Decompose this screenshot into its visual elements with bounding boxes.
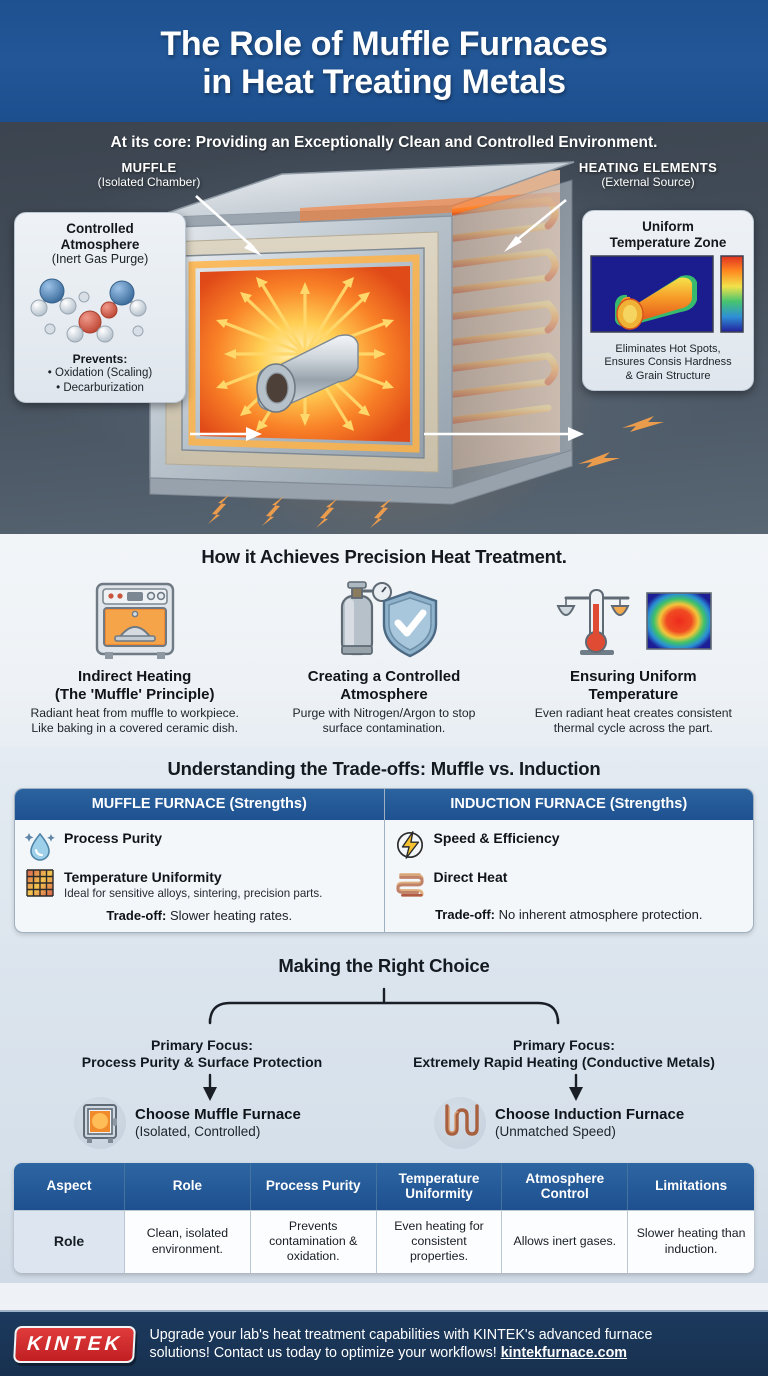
gas-cylinder-shield-icon [265,578,502,664]
gas-molecules-icon [22,267,178,345]
controlled-atmosphere-card: Controlled Atmosphere (Inert Gas Purge) [14,212,186,403]
comparison-panel: MUFFLE FURNACE (Strengths) Pr [14,788,754,933]
table-cell-atmosphere-control: Allows inert gases. [502,1210,628,1273]
how-columns: Indirect Heating (The 'Muffle' Principle… [10,578,758,737]
table-header-uniformity: Temperature Uniformity [377,1163,503,1210]
left-focus-text: Process Purity & Surface Protection [82,1054,322,1070]
decision-title: Making the Right Choice [10,955,758,977]
decision-tree: Primary Focus: Process Purity & Surface … [10,979,758,1151]
page-title: The Role of Muffle Furnaces in Heat Trea… [160,25,607,102]
atmosphere-title-line2: Atmosphere [21,237,179,253]
induction-strength-item: Speed & Efficiency [395,829,744,861]
kintek-logo: KINTEK [13,1326,136,1363]
heating-elements-label: HEATING ELEMENTS (External Source) [548,160,748,189]
atmosphere-prevents-label: Prevents: [21,352,179,366]
zone-note-line2: Ensures Consis Hardness [589,356,747,369]
induction-column-header: INDUCTION FURNACE (Strengths) [385,789,754,820]
how-heading-3-line1: Ensuring Uniform [570,668,697,685]
summary-table: Aspect Role Process Purity Temperature U… [14,1163,754,1273]
zone-note-line3: & Grain Structure [589,370,747,383]
heating-label-title: HEATING ELEMENTS [548,160,748,175]
glowing-furnace-icon [74,1097,126,1149]
balance-thermometer-heatmap-icon [515,578,752,664]
footer-website-link[interactable]: kintekfurnace.com [501,1345,627,1361]
induction-strength-item: Direct Heat [395,868,744,900]
induction-tradeoff-text: No inherent atmosphere protection. [499,907,703,922]
table-cell-aspect: Role [14,1210,125,1273]
table-header-aspect: Aspect [14,1163,125,1210]
muffle-tradeoff: Trade-off: Slower heating rates. [25,908,374,923]
how-desc-3-line2: thermal cycle across the part. [554,721,713,735]
how-column-uniform-temperature: Ensuring Uniform Temperature Even radian… [509,578,758,737]
induction-coil-icon [434,1097,486,1149]
heating-leader-line [512,200,566,244]
muffle-label-title: MUFFLE [54,160,244,175]
choose-muffle-sub: (Isolated, Controlled) [135,1124,301,1140]
table-header-role: Role [125,1163,251,1210]
decision-branch-right: Primary Focus: Extremely Rapid Heating (… [374,1037,754,1071]
right-focus-label: Primary Focus: [513,1037,615,1053]
table-cell-role: Clean, isolated environment. [125,1210,251,1273]
hero-diagram-section: At its core: Providing an Exceptionally … [0,122,768,534]
header-banner: The Role of Muffle Furnaces in Heat Trea… [0,0,768,122]
how-desc-2-line1: Purge with Nitrogen/Argon to stop [293,706,476,720]
decision-section: Making the Right Choice Primary Focus: [0,945,768,1159]
choose-muffle-title: Choose Muffle Furnace [135,1106,301,1124]
uniform-temperature-zone-card: Uniform Temperature Zone [582,210,754,391]
thermal-map-icon [589,254,747,334]
muffle-strength-item: Temperature Uniformity Ideal for sensiti… [25,868,374,901]
how-desc-3-line1: Even radiant heat creates consistent [535,706,732,720]
how-heading-2-line1: Creating a Controlled [308,668,461,685]
how-desc-2-line2: surface contamination. [323,721,446,735]
muffle-leader-line [196,196,254,248]
how-heading-2-line2: Atmosphere [340,686,428,703]
induction-tradeoff-label: Trade-off: [435,907,495,922]
table-row: Role Clean, isolated environment. Preven… [14,1210,754,1273]
footer-cta-text: Upgrade your lab's heat treatment capabi… [149,1326,652,1362]
choose-induction-block: Choose Induction Furnace (Unmatched Spee… [434,1097,684,1149]
page-title-line2: in Heat Treating Metals [202,63,565,101]
page-title-line1: The Role of Muffle Furnaces [160,25,607,63]
atmosphere-subtitle: (Inert Gas Purge) [21,252,179,267]
left-focus-label: Primary Focus: [151,1037,253,1053]
induction-item-2-title: Direct Heat [434,869,508,885]
hero-subtitle: At its core: Providing an Exceptionally … [0,122,768,152]
zone-title-line1: Uniform [589,219,747,235]
induction-tradeoff: Trade-off: No inherent atmosphere protec… [395,907,744,922]
atmosphere-title-line1: Controlled [21,221,179,237]
muffle-label-sub: (Isolated Chamber) [54,175,244,189]
muffle-tradeoff-label: Trade-off: [106,908,166,923]
summary-table-section: Aspect Role Process Purity Temperature U… [0,1159,768,1283]
table-header-purity: Process Purity [251,1163,377,1210]
how-desc-1-line2: Like baking in a covered ceramic dish. [31,721,238,735]
footer-cta-line1: Upgrade your lab's heat treatment capabi… [149,1327,652,1343]
how-column-indirect-heating: Indirect Heating (The 'Muffle' Principle… [10,578,259,737]
muffle-column-header: MUFFLE FURNACE (Strengths) [15,789,384,820]
water-drop-sparkle-icon [25,829,55,861]
heating-label-sub: (External Source) [548,175,748,189]
table-header-limitations: Limitations [628,1163,754,1210]
choose-muffle-block: Choose Muffle Furnace (Isolated, Control… [74,1097,301,1149]
oven-cloche-icon [16,578,253,664]
how-column-controlled-atmosphere: Creating a Controlled Atmosphere Purge w… [259,578,508,737]
muffle-item-1-title: Process Purity [64,830,162,846]
tradeoffs-title: Understanding the Trade-offs: Muffle vs.… [14,758,754,780]
how-heading-3-line2: Temperature [588,686,678,703]
infographic-page: The Role of Muffle Furnaces in Heat Trea… [0,0,768,1376]
heatmap-thumbnail-icon [646,592,712,650]
choose-induction-title: Choose Induction Furnace [495,1106,684,1124]
table-header-row: Aspect Role Process Purity Temperature U… [14,1163,754,1210]
how-desc-1-line1: Radiant heat from muffle to workpiece. [30,706,238,720]
table-cell-limitations: Slower heating than induction. [628,1210,754,1273]
tradeoffs-section: Understanding the Trade-offs: Muffle vs.… [0,747,768,945]
table-cell-process-purity: Prevents contamination & oxidation. [251,1210,377,1273]
table-cell-temperature-uniformity: Even heating for consistent properties. [377,1210,503,1273]
muffle-item-2-desc: Ideal for sensitive alloys, sintering, p… [64,887,374,901]
muffle-item-2-title: Temperature Uniformity [64,869,222,885]
muffle-label: MUFFLE (Isolated Chamber) [54,160,244,189]
footer-cta-line2: solutions! Contact us today to optimize … [149,1345,500,1361]
grid-uniformity-icon [25,868,55,898]
decision-branch-left: Primary Focus: Process Purity & Surface … [18,1037,386,1071]
muffle-strength-item: Process Purity [25,829,374,861]
zone-note-line1: Eliminates Hot Spots, [589,343,747,356]
choose-induction-sub: (Unmatched Speed) [495,1124,684,1140]
right-focus-text: Extremely Rapid Heating (Conductive Meta… [413,1054,715,1070]
footer-cta-bar: KINTEK Upgrade your lab's heat treatment… [0,1310,768,1376]
atmosphere-bullet-2: • Decarburization [21,381,179,395]
induction-item-1-title: Speed & Efficiency [434,830,560,846]
how-it-works-section: How it Achieves Precision Heat Treatment… [0,534,768,747]
atmosphere-bullet-1: • Oxidation (Scaling) [21,366,179,380]
kintek-logo-text: KINTEK [26,1333,123,1356]
how-section-title: How it Achieves Precision Heat Treatment… [10,546,758,568]
lightning-bolt-icon [395,829,425,861]
table-header-atmosphere: Atmosphere Control [502,1163,628,1210]
muffle-strengths-column: MUFFLE FURNACE (Strengths) Pr [15,789,384,932]
how-heading-1-line1: Indirect Heating [78,668,191,685]
induction-strengths-column: INDUCTION FURNACE (Strengths) Speed & Ef… [384,789,754,932]
muffle-tradeoff-text: Slower heating rates. [170,908,292,923]
zone-title-line2: Temperature Zone [589,235,747,251]
how-heading-1-line2: (The 'Muffle' Principle) [55,686,215,703]
copper-coil-icon [395,868,425,900]
